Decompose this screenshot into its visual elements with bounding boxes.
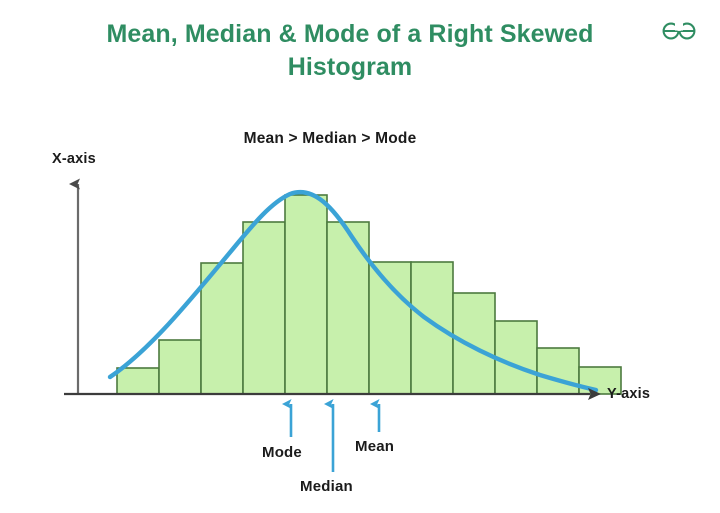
histogram-bar — [411, 262, 453, 394]
histogram-bar — [369, 262, 411, 394]
vertical-axis-label: X-axis — [52, 151, 96, 167]
mode-label: Mode — [262, 444, 302, 461]
histogram-bar — [243, 222, 285, 394]
histogram-bar — [537, 348, 579, 394]
screenshot-canvas: Mean, Median & Mode of a Right Skewed Hi… — [0, 0, 720, 513]
histogram-bar — [285, 195, 327, 394]
histogram-bar — [453, 293, 495, 394]
mean-label: Mean — [355, 438, 394, 455]
horizontal-axis-label: Y-axis — [607, 386, 650, 402]
histogram-figure — [0, 0, 720, 513]
histogram-bar — [327, 222, 369, 394]
histogram-bar — [159, 340, 201, 394]
median-label: Median — [300, 478, 353, 495]
histogram-bar — [495, 321, 537, 394]
inequality-annotation: Mean > Median > Mode — [180, 130, 480, 148]
histogram-bar — [117, 368, 159, 394]
